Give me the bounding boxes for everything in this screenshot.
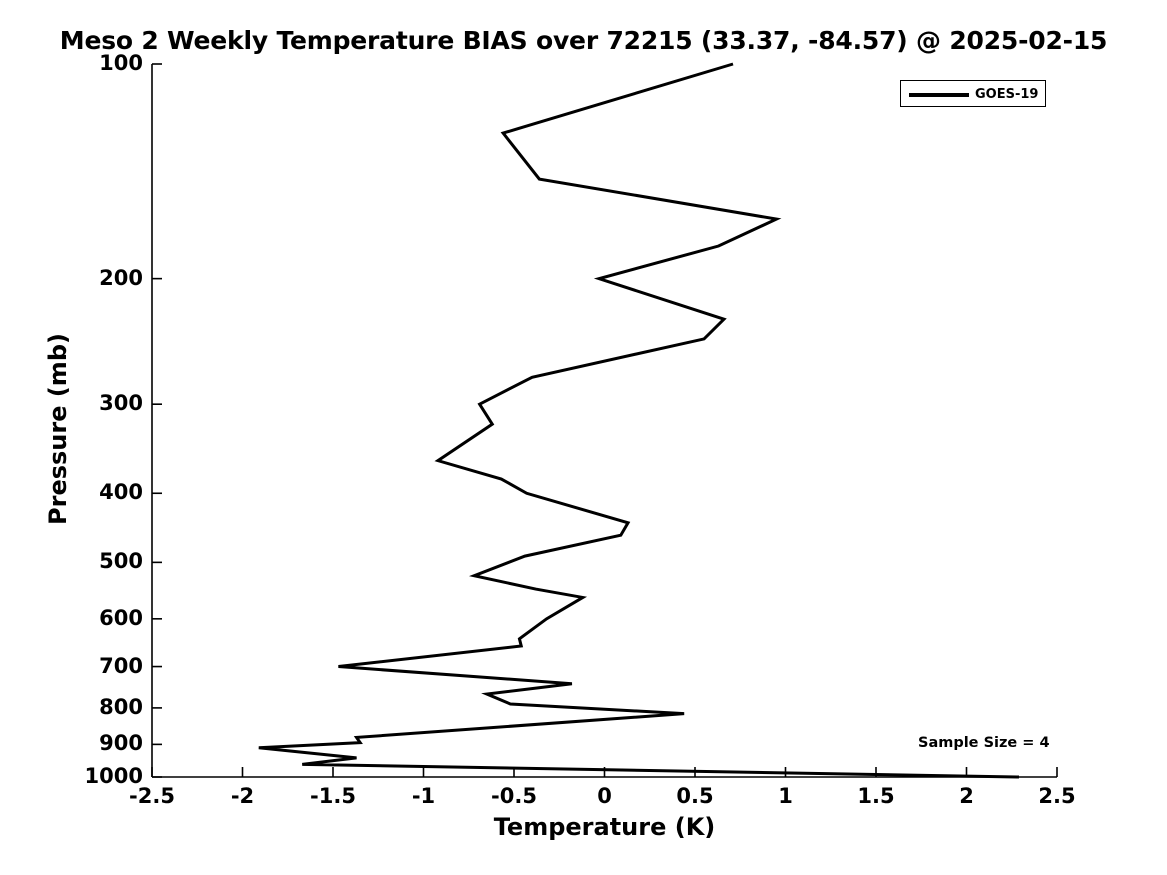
legend-swatch-goes19 <box>909 93 969 97</box>
y-axis-title: Pressure (mb) <box>44 309 72 549</box>
chart-figure: Meso 2 Weekly Temperature BIAS over 7221… <box>0 0 1167 875</box>
y-tick-label-1000: 1000 <box>33 766 143 787</box>
y-tick-label-900: 900 <box>33 733 143 754</box>
y-tick-label-200: 200 <box>33 268 143 289</box>
y-tick-label-100: 100 <box>33 53 143 74</box>
y-tick-label-800: 800 <box>33 697 143 718</box>
y-tick-label-600: 600 <box>33 608 143 629</box>
y-tick-label-500: 500 <box>33 551 143 572</box>
y-tick-label-700: 700 <box>33 656 143 677</box>
series-line-goes-19 <box>259 64 1019 777</box>
x-tick-label-2.5: 2.5 <box>997 786 1117 807</box>
y-axis-tick-marks <box>152 64 162 777</box>
legend-label-goes19: GOES-19 <box>975 87 1038 102</box>
x-axis-title: Temperature (K) <box>152 813 1057 841</box>
legend: GOES-19 <box>900 80 1046 107</box>
data-series-group <box>259 64 1019 777</box>
sample-size-annotation: Sample Size = 4 <box>918 735 1050 751</box>
